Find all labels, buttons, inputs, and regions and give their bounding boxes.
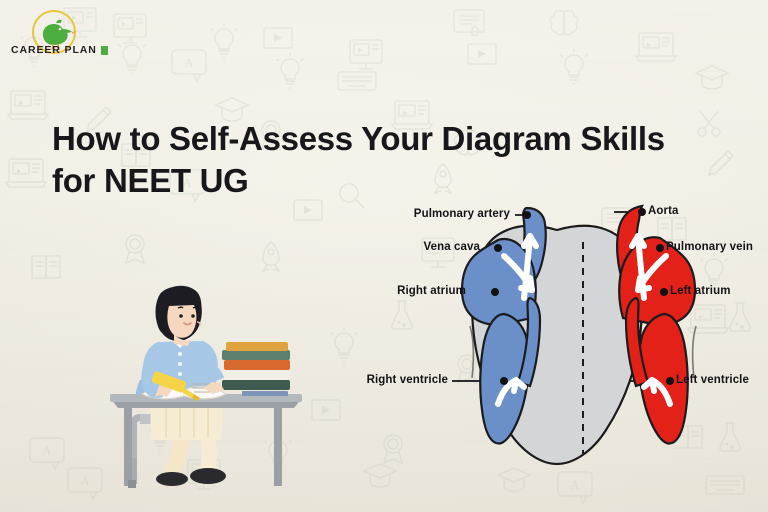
label-right-ventricle: Right ventricle bbox=[348, 374, 448, 386]
label-right-atrium: Right atrium bbox=[378, 285, 466, 297]
brand-logo-text: CAREER PLAN bbox=[11, 44, 108, 56]
book-stack-shape bbox=[220, 342, 290, 396]
label-pulmonary-vein: Pulmonary vein bbox=[666, 241, 753, 253]
page-title-line-1: How to Self-Assess Your Diagram Skills bbox=[52, 120, 665, 157]
shoe-left-shape bbox=[156, 472, 188, 486]
heart-diagram-svg bbox=[352, 186, 768, 486]
page-title-line-2: for NEET UG bbox=[52, 162, 249, 199]
shoe-right-shape bbox=[190, 468, 226, 484]
brand-mark-badge bbox=[101, 46, 108, 55]
legs-shape bbox=[156, 436, 226, 486]
label-pulmonary-artery: Pulmonary artery bbox=[410, 208, 510, 220]
poster-canvas: A bbox=[0, 0, 768, 512]
label-left-ventricle: Left ventricle bbox=[676, 374, 749, 386]
head-shape bbox=[156, 286, 202, 346]
brand-name: CAREER PLAN bbox=[11, 44, 97, 56]
student-reading-illustration bbox=[96, 276, 328, 498]
label-vena-cava: Vena cava bbox=[394, 241, 480, 253]
heart-diagram: Pulmonary artery Vena cava Right atrium … bbox=[352, 186, 768, 486]
label-left-atrium: Left atrium bbox=[670, 285, 731, 297]
label-aorta: Aorta bbox=[648, 205, 679, 217]
